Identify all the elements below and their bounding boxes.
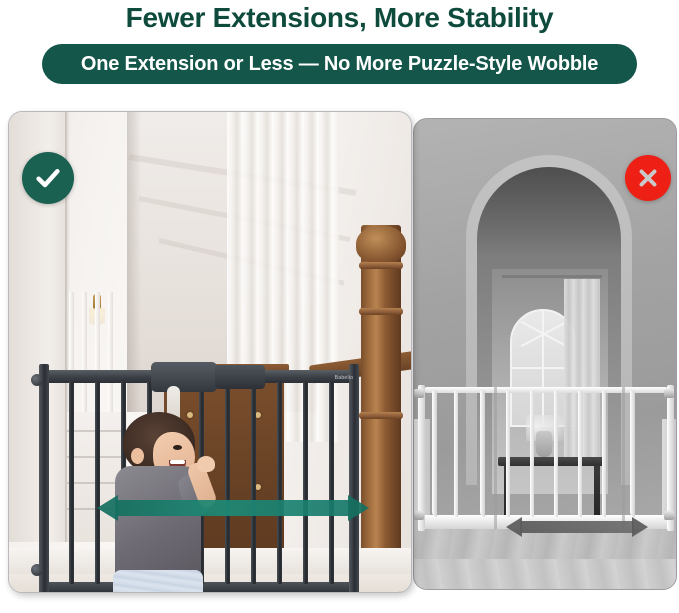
gate-hinge: [31, 564, 43, 576]
gate-bar: [602, 391, 606, 517]
gate-foot: [339, 592, 355, 593]
gate-mounting-nut: [414, 511, 424, 520]
newel-post: [361, 225, 401, 593]
gate-bar: [506, 391, 510, 517]
white-safety-gate: [418, 387, 674, 537]
gate-bar: [303, 382, 308, 584]
gate-post-right: [349, 364, 359, 593]
check-icon: [22, 152, 74, 204]
gate-bar: [95, 382, 100, 584]
curtain-rod: [502, 275, 602, 278]
comparison-graphic: Fewer Extensions, More Stability One Ext…: [0, 0, 679, 613]
gate-bar-curved: [480, 391, 485, 517]
arrow-shaft: [520, 521, 634, 533]
arrow-shaft: [116, 500, 350, 516]
newel-post-cap: [356, 225, 406, 263]
gate-bar: [277, 382, 282, 584]
gate-bar: [554, 391, 558, 517]
extension-seam: [622, 387, 625, 529]
newel-post-ring: [359, 412, 403, 419]
gate-bar: [329, 382, 334, 584]
double-arrow-icon-bad: [506, 517, 648, 537]
gate-hinge: [31, 374, 43, 386]
arrow-head-right: [632, 517, 648, 537]
gate-mounting-nut: [664, 511, 674, 520]
gate-mounting-nut: [414, 389, 424, 398]
gate-bar: [251, 382, 256, 584]
subtitle-banner: One Extension or Less — No More Puzzle-S…: [42, 44, 637, 84]
arrow-head-right: [348, 495, 369, 521]
toddler-hand: [197, 456, 215, 472]
page-title: Fewer Extensions, More Stability: [0, 2, 679, 34]
gate-post-right: [667, 385, 674, 531]
gate-bar: [454, 391, 458, 517]
gate-latch-housing[interactable]: [151, 362, 217, 392]
cross-icon: [625, 155, 671, 201]
toddler-ear: [131, 448, 144, 464]
gate-mounting-nut: [664, 389, 674, 398]
gate-bar: [69, 382, 74, 584]
gate-brand-label: Babelio: [329, 374, 359, 382]
gate-bar: [530, 391, 534, 517]
double-arrow-icon-good: [97, 495, 369, 521]
gate-post-left: [39, 364, 49, 593]
newel-post-ring: [359, 262, 403, 269]
extension-seam: [494, 387, 497, 529]
toddler-eye: [173, 445, 182, 450]
gate-foot: [41, 592, 57, 593]
gate-bar: [578, 391, 582, 517]
gate-bar: [225, 382, 230, 584]
newel-post-ring: [359, 308, 403, 315]
gate-bar-curved: [630, 391, 635, 517]
gate-bar-curved: [432, 391, 437, 517]
arrow-head-left: [97, 495, 118, 521]
subtitle-banner-label: One Extension or Less — No More Puzzle-S…: [81, 53, 598, 76]
tile-floor-foreground: [414, 559, 677, 590]
toddler-shorts: [113, 570, 203, 593]
gate-latch-arm[interactable]: [215, 365, 265, 389]
gate-post-left: [418, 385, 425, 531]
